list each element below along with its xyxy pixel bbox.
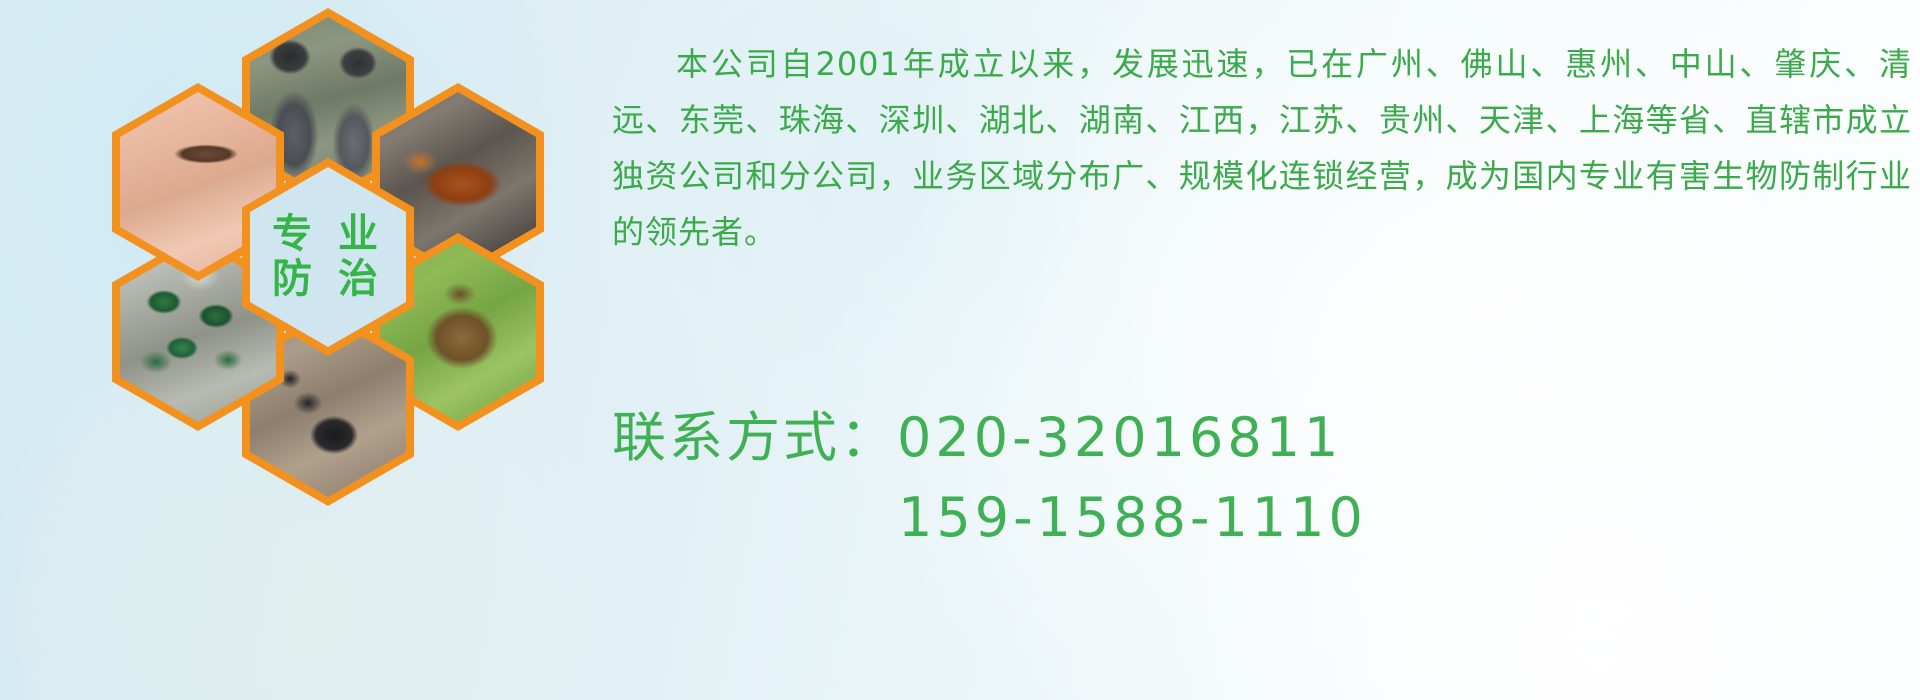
company-description-text: 本公司自2001年成立以来，发展迅速，已在广州、佛山、惠州、中山、肇庆、清远、东… [612, 36, 1912, 260]
hex-inner-center: 专 业 防 治 [250, 167, 406, 347]
pest-control-banner: 专 业 防 治 本公司自2001年成立以来，发展迅速，已在广州、佛山、惠州、中山… [0, 0, 1920, 700]
contact-secondary-line: 159-1588-1110 [612, 478, 1912, 558]
honeycomb-cluster: 专 业 防 治 [92, 8, 592, 568]
center-label-line-1: 专 业 [272, 212, 384, 257]
contact-phone-secondary[interactable]: 159-1588-1110 [898, 486, 1367, 549]
company-description-block: 本公司自2001年成立以来，发展迅速，已在广州、佛山、惠州、中山、肇庆、清远、东… [612, 36, 1912, 260]
contact-primary-line: 联系方式：020-32016811 [612, 398, 1912, 478]
contact-phone-primary[interactable]: 020-32016811 [897, 406, 1342, 469]
contact-block: 联系方式：020-32016811 159-1588-1110 [612, 398, 1912, 558]
contact-label: 联系方式： [612, 406, 897, 469]
honeycomb-center-label: 专 业 防 治 [272, 212, 384, 302]
center-label-line-2: 防 治 [272, 257, 384, 302]
